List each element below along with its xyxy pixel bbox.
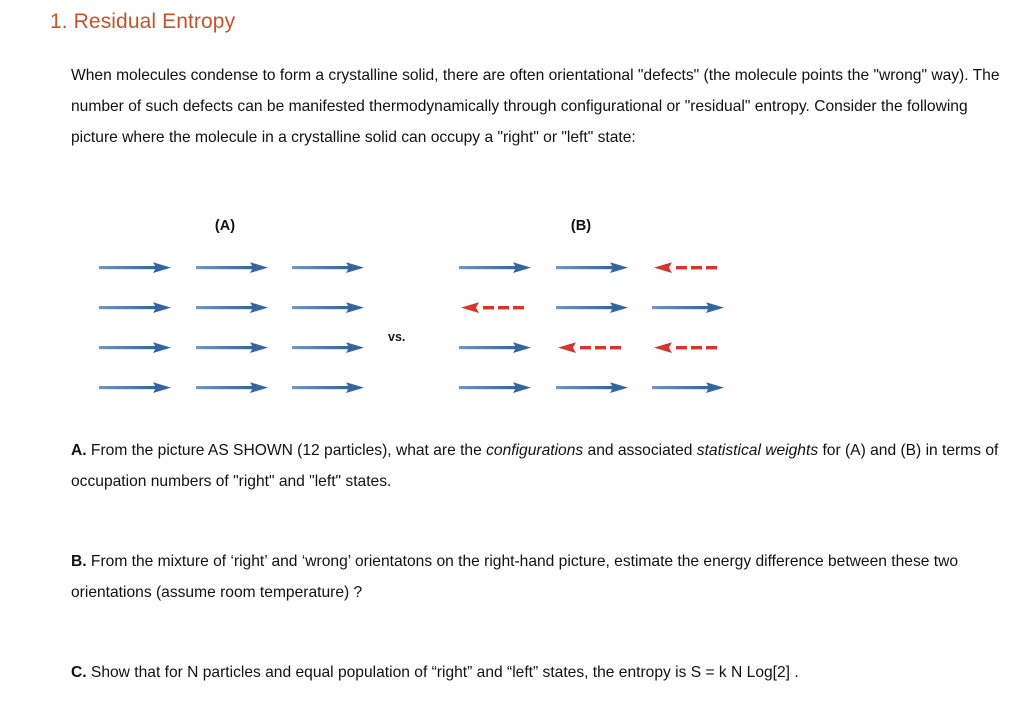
arrow-row (90, 328, 380, 368)
left-state-arrow-icon (450, 288, 547, 328)
right-state-arrow-icon (283, 328, 380, 368)
question-b-letter: B. (71, 553, 87, 570)
question-a-letter: A. (71, 442, 87, 459)
arrow-row (90, 248, 380, 288)
right-state-arrow-icon (283, 368, 380, 408)
right-state-arrow-icon (90, 328, 187, 368)
right-state-arrow-icon (187, 368, 284, 408)
right-state-arrow-icon (90, 248, 187, 288)
right-state-arrow-icon (187, 248, 284, 288)
panel-a-label: (A) (80, 218, 370, 234)
question-a: A. From the picture AS SHOWN (12 particl… (71, 435, 1016, 497)
right-state-arrow-icon (187, 328, 284, 368)
panel-a-arrow-grid (90, 248, 380, 408)
right-state-arrow-icon (187, 288, 284, 328)
right-state-arrow-icon (283, 248, 380, 288)
right-state-arrow-icon (90, 288, 187, 328)
right-state-arrow-icon (450, 368, 547, 408)
right-state-arrow-icon (547, 288, 644, 328)
arrow-row (450, 248, 740, 288)
panel-b-label: (B) (436, 218, 726, 234)
document-page: 1. Residual Entropy When molecules conde… (0, 0, 1024, 726)
arrow-row (90, 288, 380, 328)
right-state-arrow-icon (643, 368, 740, 408)
question-c-letter: C. (71, 664, 87, 681)
diagram-panel-a: (A) (90, 218, 380, 393)
left-state-arrow-icon (643, 248, 740, 288)
diagram-panel-b: (B) (450, 218, 740, 393)
question-b-body: From the mixture of ‘right’ and ‘wrong’ … (71, 553, 958, 601)
panel-b-arrow-grid (450, 248, 740, 408)
question-c-body: Show that for N particles and equal popu… (87, 664, 799, 681)
arrow-row (90, 368, 380, 408)
right-state-arrow-icon (450, 328, 547, 368)
right-state-arrow-icon (643, 288, 740, 328)
right-state-arrow-icon (450, 248, 547, 288)
arrow-row (450, 368, 740, 408)
page-title: 1. Residual Entropy (50, 10, 235, 34)
intro-paragraph: When molecules condense to form a crysta… (71, 60, 1011, 153)
right-state-arrow-icon (283, 288, 380, 328)
question-b: B. From the mixture of ‘right’ and ‘wron… (71, 546, 1016, 608)
arrow-row (450, 288, 740, 328)
left-state-arrow-icon (643, 328, 740, 368)
versus-label: vs. (388, 330, 405, 344)
right-state-arrow-icon (90, 368, 187, 408)
orientation-diagram: (A) vs. (B) (90, 218, 740, 393)
right-state-arrow-icon (547, 248, 644, 288)
right-state-arrow-icon (547, 368, 644, 408)
arrow-row (450, 328, 740, 368)
question-a-body: From the picture AS SHOWN (12 particles)… (71, 442, 998, 490)
question-c: C. Show that for N particles and equal p… (71, 657, 1016, 688)
left-state-arrow-icon (547, 328, 644, 368)
